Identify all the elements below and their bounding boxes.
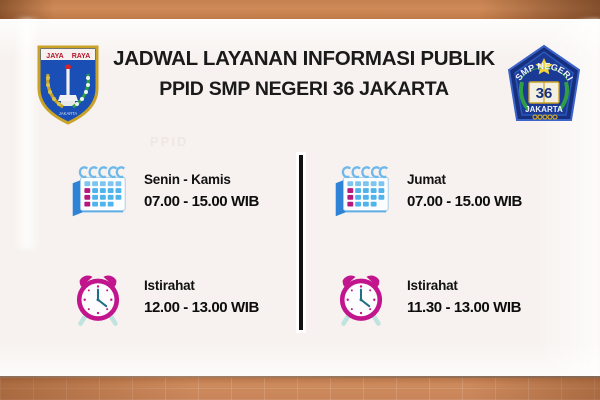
schedule-time-value: 12.00 - 13.00 WIB — [144, 297, 259, 318]
alarm-clock-icon — [62, 261, 134, 333]
schedule-column-right: Jumat 07.00 - 15.00 WIB — [325, 150, 570, 362]
schedule-day-label: Jumat — [407, 170, 522, 189]
top-wood-band — [0, 0, 600, 19]
schedule-text: Jumat 07.00 - 15.00 WIB — [407, 170, 522, 212]
schedule-row: Senin - Kamis 07.00 - 15.00 WIB — [62, 150, 307, 232]
watermark-text: PPID — [150, 134, 270, 150]
smp-negeri-36-jakarta-logo-icon: SMP NEGERI 36 JAKARTA — [505, 44, 583, 128]
svg-text:JAKARTA: JAKARTA — [59, 111, 78, 116]
svg-text:JAYA: JAYA — [46, 53, 63, 60]
poster-canvas: JAYA RAYA JAKARTA — [0, 0, 600, 400]
poster-title-block: JADWAL LAYANAN INFORMASI PUBLIK PPID SMP… — [108, 46, 500, 102]
poster-header: JAYA RAYA JAKARTA — [0, 30, 600, 130]
schedule-text: Istirahat 12.00 - 13.00 WIB — [144, 276, 259, 318]
schedule-day-label: Istirahat — [144, 276, 259, 295]
calendar-icon — [325, 155, 397, 227]
schedule-time-value: 11.30 - 13.00 WIB — [407, 297, 521, 318]
svg-text:JAKARTA: JAKARTA — [525, 105, 563, 114]
svg-text:36: 36 — [536, 85, 553, 102]
svg-text:RAYA: RAYA — [72, 53, 91, 60]
jakarta-provincial-emblem-icon: JAYA RAYA JAKARTA — [35, 44, 101, 126]
schedule-row: Jumat 07.00 - 15.00 WIB — [325, 150, 570, 232]
schedule-text: Senin - Kamis 07.00 - 15.00 WIB — [144, 170, 259, 212]
schedule-column-left: Senin - Kamis 07.00 - 15.00 WIB — [62, 150, 307, 362]
schedule-time-value: 07.00 - 15.00 WIB — [407, 191, 522, 212]
schedule-day-label: Senin - Kamis — [144, 170, 259, 189]
schedule-text: Istirahat 11.30 - 13.00 WIB — [407, 276, 521, 318]
poster-title-line-2: PPID SMP NEGERI 36 JAKARTA — [108, 76, 500, 102]
schedule-day-label: Istirahat — [407, 276, 521, 295]
schedule-time-value: 07.00 - 15.00 WIB — [144, 191, 259, 212]
alarm-clock-icon — [325, 261, 397, 333]
poster-title-line-1: JADWAL LAYANAN INFORMASI PUBLIK — [108, 46, 500, 72]
calendar-icon — [62, 155, 134, 227]
bottom-brick-band — [0, 378, 600, 400]
schedule-row: Istirahat 12.00 - 13.00 WIB — [62, 256, 307, 338]
schedule-row: Istirahat 11.30 - 13.00 WIB — [325, 256, 570, 338]
